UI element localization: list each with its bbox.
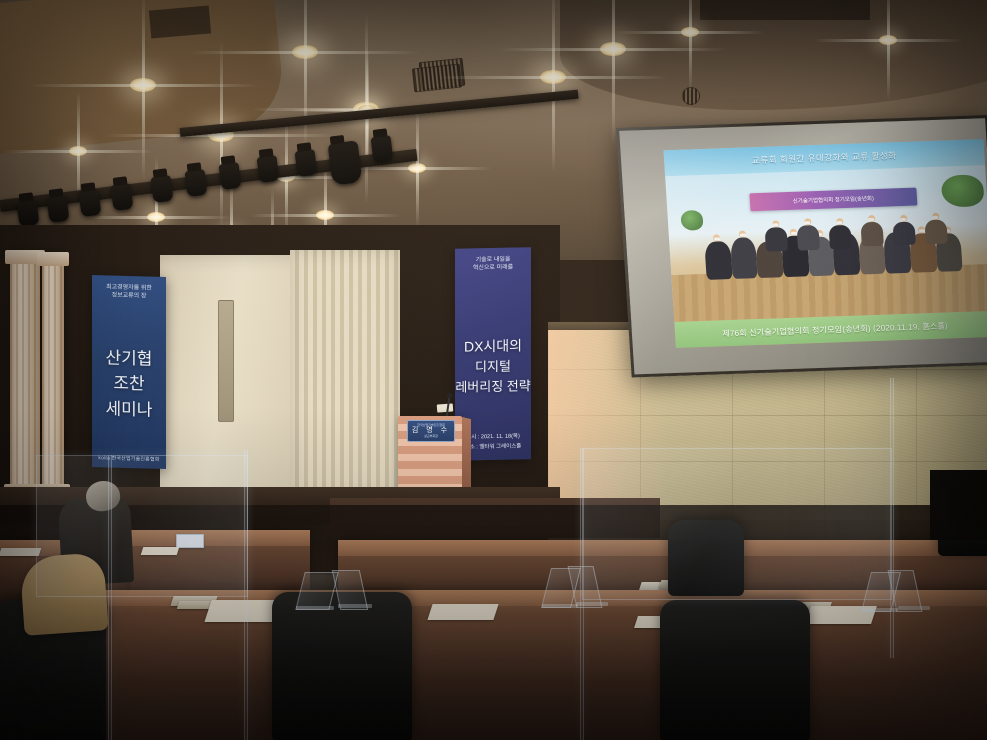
lectern: 한국산업기술진흥협회 김 영 수 상근부회장 [398,416,462,494]
photo-person-back [829,225,853,249]
photo-person-back [765,228,789,252]
stage-spotlight [184,169,207,197]
projection-screen: 교류회 회원간 유대강화와 교류 활성화 신기술기업협의회 정기모임(송년회) [616,115,987,377]
photo-person-back [796,225,820,251]
acrylic-divider [582,448,892,600]
banner-left-headline: 산기협 조찬 세미나 [106,345,153,423]
lectern-nameplate: 한국산업기술진흥협회 김 영 수 상근부회장 [407,420,455,442]
photo-person [730,237,758,279]
photo-person [705,241,733,280]
acrylic-divider-foot [898,606,930,610]
banner-right-headline-line3: 레버리징 전략 [455,376,530,397]
plant-icon [680,210,704,231]
ceiling-downlight [681,27,699,37]
banner-right-headline-line1: DX시대의 [455,335,530,358]
banner-right-kicker-line2: 혁신으로 미래를 [473,264,513,273]
stage-spotlight [256,155,279,183]
ceiling-downlight [292,45,318,59]
column-capital [37,252,69,266]
acrylic-divider-foot [542,604,578,608]
stage-spotlight [218,162,241,190]
banner-left-kicker: 최고경영자를 위한 정보교류의 장 [106,283,152,300]
slide-caption-text: 제76회 신기술기업협의회 정기모임(송년회) (2020.11.19, 홈스홀… [722,320,948,339]
rollup-banner-left: 최고경영자를 위한 정보교류의 장 산기협 조찬 세미나 koita 한국산업기… [92,275,166,469]
stage-spotlight [46,195,69,223]
podium-paper [437,403,454,412]
plant-icon [941,174,985,207]
photo-event-banner-text: 신기술기업협의회 정기모임(송년회) [793,194,875,205]
banner-right-kicker: 기술로 내일을 혁신으로 미래를 [473,256,513,273]
vertical-blinds [290,250,400,500]
ceiling-downlight [540,70,566,84]
ceiling-downlight [316,210,334,220]
acrylic-divider-foot [576,602,608,606]
banner-right-headline-line2: 디지털 [455,356,530,377]
slide-header-text: 교류회 회원간 유대강화와 교류 활성화 [752,149,897,166]
photo-person-back [860,221,884,247]
stage-spotlight [294,149,317,177]
acrylic-divider-foot [862,608,898,612]
chair [660,600,810,740]
ceiling-downlight [69,146,87,156]
ceiling-downlight [130,78,156,92]
stage-spotlight [78,189,101,217]
nameplate-role: 상근부회장 [424,435,438,438]
slide-group-photo: 신기술기업협의회 정기모임(송년회) [665,165,987,322]
ceiling-downlight [147,212,165,222]
seminar-hall-photo: 교류회 회원간 유대강화와 교류 활성화 신기술기업협의회 정기모임(송년회) [0,0,987,740]
acrylic-divider-foot [296,606,334,610]
ceiling-downlight [408,163,426,173]
stage-spotlight [110,183,133,211]
ceiling-panel-2 [700,0,870,20]
banner-left-headline-line3: 세미나 [106,396,153,423]
wall-panel-slot [218,300,234,422]
ceiling-downlight [879,35,897,45]
banner-left-headline-line1: 산기협 [106,345,153,372]
photo-person-back [892,222,916,246]
banner-right-headline: DX시대의 디지털 레버리징 전략 [455,335,530,397]
lectern-side [462,417,471,495]
stage-spotlight-large [328,140,363,185]
ceiling-downlight [600,42,626,56]
photo-event-banner: 신기술기업협의회 정기모임(송년회) [750,188,917,211]
chair [272,592,412,740]
acrylic-divider-foot [338,604,372,608]
acrylic-divider [36,455,248,597]
banner-left-kicker-line2: 정보교류의 장 [106,291,152,300]
stage-spotlight [16,199,39,227]
ceiling-panel [149,5,211,38]
photo-person-back [924,219,948,245]
projected-slide: 교류회 회원간 유대강화와 교류 활성화 신기술기업협의회 정기모임(송년회) [663,139,987,348]
stage-spotlight [370,135,393,163]
table-paper [427,604,498,620]
banner-left-headline-line2: 조찬 [106,371,153,398]
foreground-shadow-right [930,470,987,540]
stage-spotlight [150,175,173,203]
